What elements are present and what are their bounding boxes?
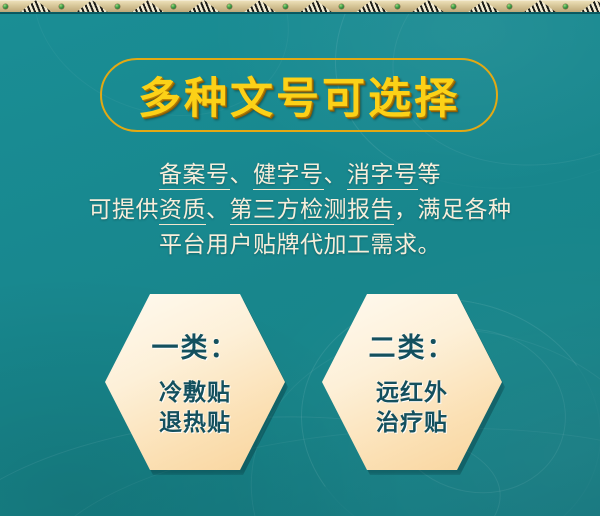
description-highlight: 第三方检测报告 <box>230 197 395 225</box>
ornament-chevron-gem-icon <box>484 0 540 12</box>
ornamental-border <box>0 0 600 14</box>
hexagon-one-heading: 一类： <box>152 326 239 365</box>
hexagon-one-item-1: 冷敷贴 <box>159 378 231 408</box>
ornament-chevron-gem-icon <box>148 0 204 12</box>
ornament-chevron-gem-icon <box>428 0 484 12</box>
description-text: 可提供 <box>89 197 160 223</box>
ornament-chevron-gem-icon <box>92 0 148 12</box>
hexagon-two-heading: 二类： <box>369 326 456 365</box>
description-text: 、 <box>230 162 254 188</box>
description-paragraph: 备案号、健字号、消字号等可提供资质、第三方检测报告，满足各种平台用户贴牌代加工需… <box>30 158 570 263</box>
ornament-chevron-row <box>0 0 600 12</box>
ornament-highlight-line <box>0 0 600 1</box>
description-highlight: 资质 <box>159 197 206 225</box>
ornament-base-rule <box>0 12 600 14</box>
ornament-chevron-gem-icon <box>260 0 316 12</box>
ornament-chevron-gem-icon <box>372 0 428 12</box>
description-line: 备案号、健字号、消字号等 <box>30 158 570 193</box>
description-text: 、 <box>206 197 230 223</box>
hexagon-two-item-2: 治疗贴 <box>376 408 448 438</box>
promo-poster: 多种文号可选择 备案号、健字号、消字号等可提供资质、第三方检测报告，满足各种平台… <box>0 0 600 516</box>
ornament-chevron-gem-icon <box>36 0 92 12</box>
description-line: 可提供资质、第三方检测报告，满足各种 <box>30 193 570 228</box>
description-text: ，满足各种 <box>394 197 512 223</box>
description-highlight: 消字号 <box>347 162 418 190</box>
ornament-chevron-gem-icon <box>316 0 372 12</box>
hexagon-two-item-1: 远红外 <box>376 378 448 408</box>
page-title: 多种文号可选择 <box>100 58 498 132</box>
description-highlight: 健字号 <box>253 162 324 190</box>
category-hexagon-one-content: 一类： 冷敷贴 退热贴 <box>105 294 285 470</box>
description-line: 平台用户贴牌代加工需求。 <box>30 228 570 263</box>
ornament-chevron-gem-icon <box>0 0 36 12</box>
category-hexagon-two-content: 二类： 远红外 治疗贴 <box>322 294 502 470</box>
hexagon-one-item-2: 退热贴 <box>159 408 231 438</box>
description-text: 、 <box>324 162 348 188</box>
description-text: 平台用户贴牌代加工需求。 <box>159 232 441 258</box>
description-text: 等 <box>418 162 442 188</box>
ornament-chevron-gem-icon <box>204 0 260 12</box>
ornament-chevron-gem-icon <box>596 0 600 12</box>
ornament-chevron-gem-icon <box>540 0 596 12</box>
description-highlight: 备案号 <box>159 162 230 190</box>
